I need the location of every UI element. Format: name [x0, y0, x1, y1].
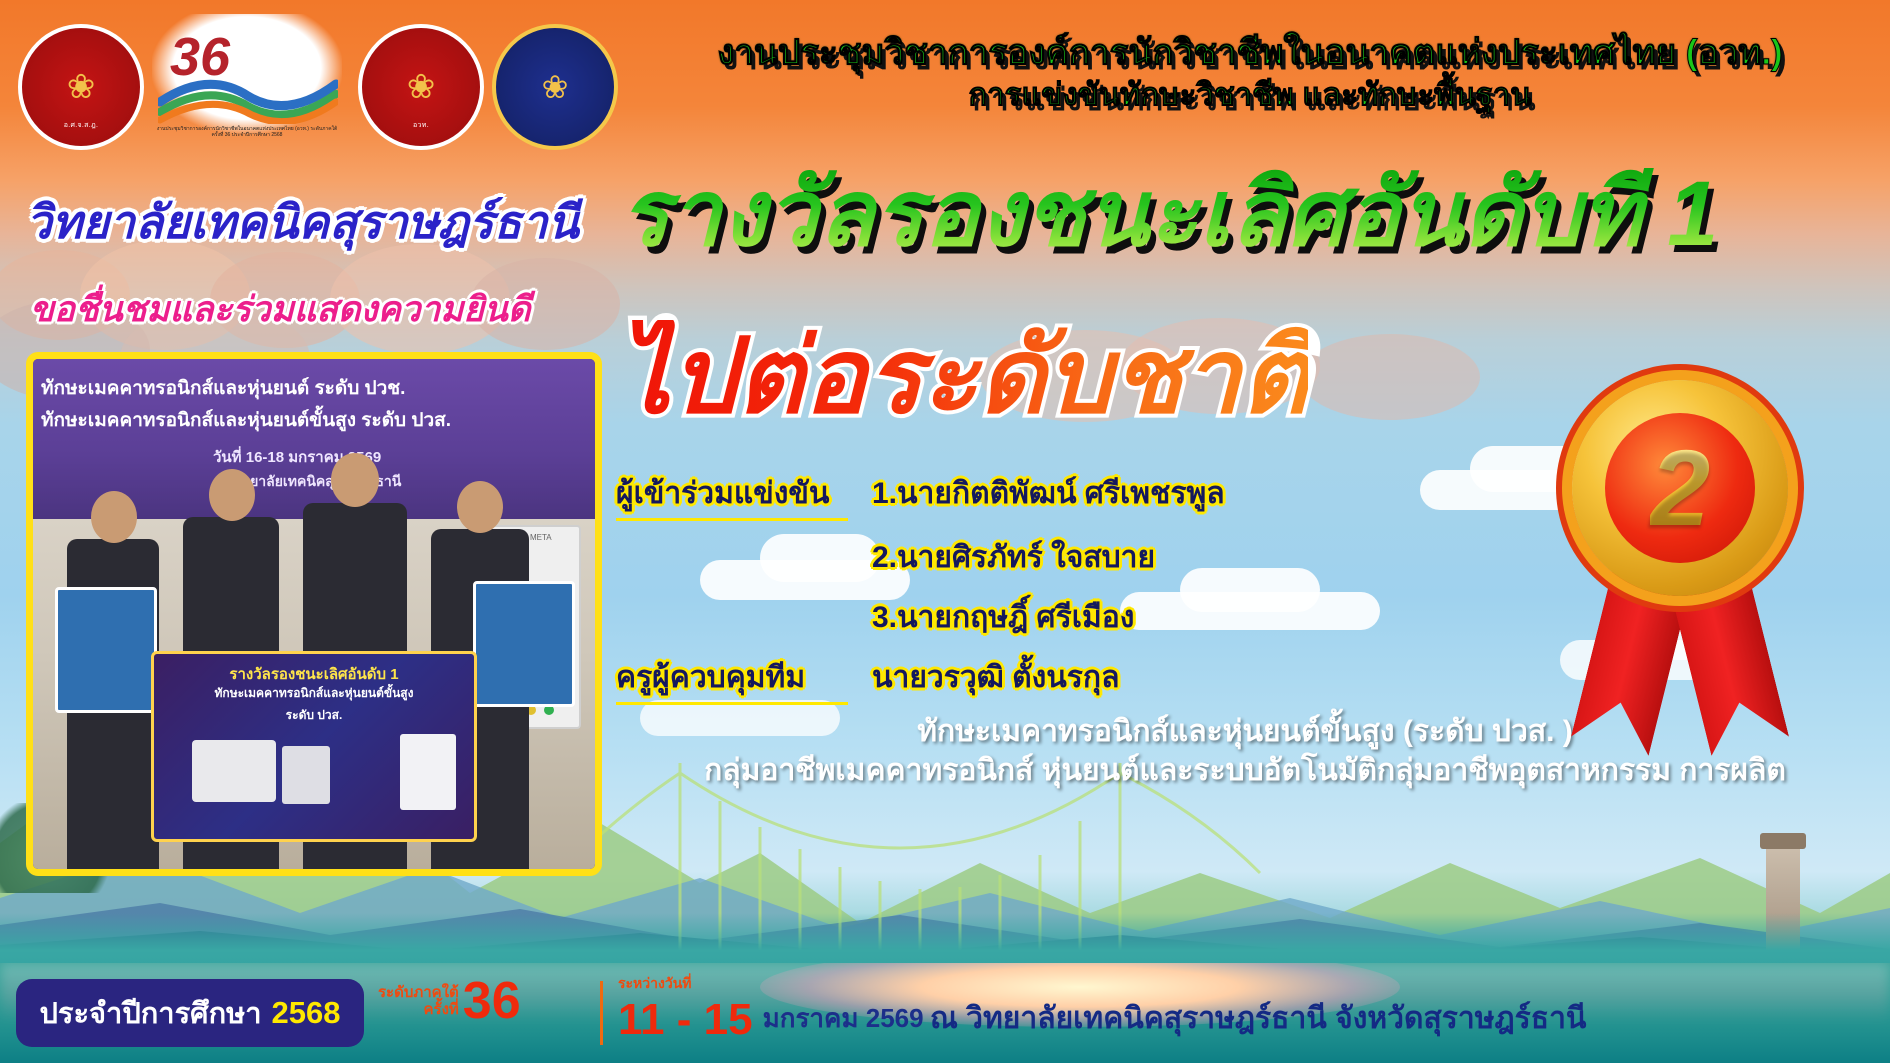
congratulations-text: ขอชื่นชมและร่วมแสดงความยินดี: [30, 282, 630, 337]
medal-rank-number: 2: [1650, 434, 1710, 542]
region-level-line1: ระดับภาคใต้: [378, 984, 459, 1001]
coach-label: ครูผู้ควบคุมทีม: [616, 654, 848, 705]
edition-number: 36: [463, 975, 521, 1027]
association-future-thai-professional-seal: ❀ อวท.: [358, 24, 484, 150]
date-range: 11 - 15: [618, 995, 753, 1045]
national-level-title: ไปต่อระดับชาติ: [618, 320, 1308, 434]
college-name: วิทยาลัยเทคนิคสุราษฎร์ธานี: [26, 186, 626, 259]
seal-caption: อวท.: [362, 120, 480, 131]
student-2-head: [209, 469, 255, 521]
student-1-head: [91, 491, 137, 543]
award-board-sub1: ทักษะเมคคาทรอนิกส์และหุ่นยนต์ขั้นสูง: [154, 684, 474, 703]
seal-emblem: ❀: [67, 67, 96, 107]
poster-root: ❀ อ.ศ.จ.ส.ฎ. 36 งานประชุมวิชาการองค์การน…: [0, 0, 1890, 1063]
io-module: [282, 746, 330, 804]
region-level-line2: ครั้งที่: [378, 1001, 459, 1018]
award-board-sub2: ระดับ ปวส.: [154, 706, 474, 725]
medal-center: 2: [1605, 413, 1755, 563]
date-block: ระหว่างวันที่ 11 - 15 มกราคม 2569: [618, 973, 924, 1045]
academic-year-value: 2568: [272, 995, 341, 1031]
venue-text: ณ วิทยาลัยเทคนิคสุราษฎร์ธานี จังหวัดสุรา…: [930, 995, 1586, 1042]
event-36-caption: งานประชุมวิชาการองค์การนักวิชาชีพในอนาคต…: [152, 126, 342, 139]
date-month-year: มกราคม 2569: [763, 998, 924, 1045]
event-36-logo: 36 งานประชุมวิชาการองค์การนักวิชาชีพในอน…: [152, 14, 342, 154]
medal-disc: 2: [1572, 380, 1788, 596]
academic-year-label: ประจำปีการศึกษา: [40, 990, 262, 1036]
participants-list: ผู้เข้าร่วมแข่งขัน 1.นายกิตติพัฒน์ ศรีเพ…: [616, 470, 1376, 718]
backdrop-line-1: ทักษะเมคคาทรอนิกส์และหุ่นยนต์ ระดับ ปวช.: [41, 373, 405, 403]
header-title-line1: งานประชุมวิชาการองค์การนักวิชาชีพในอนาคต…: [620, 34, 1880, 72]
participant-name-3: 3.นายกฤษฎิ์ ศรีเมือง: [616, 594, 1376, 641]
award-title: รางวัลรองชนะเลิศอันดับที่ 1: [620, 168, 1880, 260]
region-level-lines: ระดับภาคใต้ ครั้งที่: [378, 984, 459, 1019]
suratthani-technical-college-seal: ❀: [492, 24, 618, 150]
footer-bar: ประจำปีการศึกษา 2568 ระดับภาคใต้ ครั้งที…: [0, 963, 1890, 1063]
suratthani-vocational-education-office-seal: ❀ อ.ศ.จ.ส.ฎ.: [18, 24, 144, 150]
team-photo-content: ทักษะเมคคาทรอนิกส์และหุ่นยนต์ ระดับ ปวช.…: [33, 359, 595, 869]
participant-row: 2.นายศิรภัทร์ ใจสบาย: [616, 534, 1376, 581]
backdrop-line-2: ทักษะเมคคาทรอนิกส์และหุ่นยนต์ขั้นสูง ระด…: [41, 405, 451, 435]
team-photo: ทักษะเมคคาทรอนิกส์และหุ่นยนต์ ระดับ ปวช.…: [26, 352, 602, 876]
hmi-panel: [400, 734, 456, 810]
seal-emblem: ❀: [407, 67, 436, 107]
competitors-label: ผู้เข้าร่วมแข่งขัน: [616, 470, 848, 521]
award-display-board: รางวัลรองชนะเลิศอันดับ 1 ทักษะเมคคาทรอนิ…: [151, 651, 477, 842]
tower-top: [1760, 833, 1806, 849]
participant-name-2: 2.นายศิรภัทร์ ใจสบาย: [616, 534, 1376, 581]
award-board-title: รางวัลรองชนะเลิศอันดับ 1: [154, 662, 474, 686]
plc-module: [192, 740, 276, 802]
academic-year-badge: ประจำปีการศึกษา 2568: [16, 979, 364, 1047]
seal-emblem: ❀: [542, 68, 569, 106]
certificate-left: [55, 587, 157, 713]
medal-badge: 2: [1530, 360, 1830, 780]
coach-row: ครูผู้ควบคุมทีม นายวรวุฒิ ตั้งนรกุล: [616, 654, 1376, 705]
participant-name-1: 1.นายกิตติพัฒน์ ศรีเพชรพูล: [848, 470, 1376, 517]
header-title-block: งานประชุมวิชาการองค์การนักวิชาชีพในอนาคต…: [620, 34, 1880, 112]
coach-name: นายวรวุฒิ ตั้งนรกุล: [848, 654, 1376, 701]
certificate-right: [473, 581, 575, 707]
header-title-line2: การแข่งขันทักษะวิชาชีพ และทักษะพื้นฐาน: [620, 78, 1880, 112]
student-4-head: [457, 481, 503, 533]
student-3-head: [331, 453, 379, 507]
footer-divider: [600, 981, 603, 1045]
header: ❀ อ.ศ.จ.ส.ฎ. 36 งานประชุมวิชาการองค์การน…: [0, 0, 1890, 160]
region-level-block: ระดับภาคใต้ ครั้งที่ 36: [378, 975, 521, 1027]
participant-row: ผู้เข้าร่วมแข่งขัน 1.นายกิตติพัฒน์ ศรีเพ…: [616, 470, 1376, 521]
date-label-col: ระหว่างวันที่ 11 - 15: [618, 973, 753, 1045]
date-label: ระหว่างวันที่: [618, 973, 753, 995]
participant-row: 3.นายกฤษฎิ์ ศรีเมือง: [616, 594, 1376, 641]
seal-caption: อ.ศ.จ.ส.ฎ.: [22, 120, 140, 131]
